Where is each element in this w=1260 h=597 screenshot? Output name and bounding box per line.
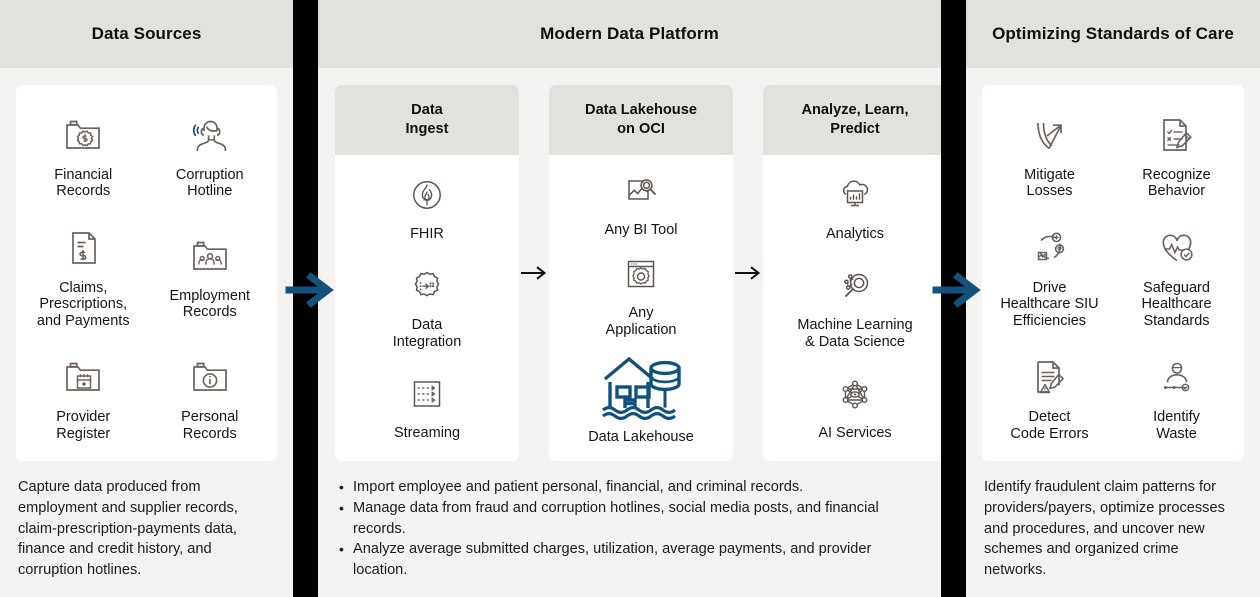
column-data-sources: Data Sources Financial Records — [0, 0, 293, 597]
panel-analyze-learn-predict: Analyze, Learn, Predict — [763, 85, 947, 461]
neural-network-icon — [834, 369, 876, 419]
document-dollar-icon — [60, 221, 106, 275]
tile-employment-records[interactable]: Employment Records — [147, 225, 274, 321]
item-analytics[interactable]: Analytics — [826, 170, 884, 243]
item-label: AI Services — [818, 425, 891, 442]
lakehouse-icon — [597, 349, 685, 423]
platform-header: Modern Data Platform — [318, 0, 941, 68]
tile-label: Employment Records — [169, 288, 250, 321]
item-label: Data Integration — [393, 317, 462, 350]
tile-financial-records[interactable]: Financial Records — [20, 104, 147, 200]
item-any-bi-tool[interactable]: Any BI Tool — [604, 166, 677, 239]
panel-title: Data Ingest — [406, 101, 449, 139]
item-label: Streaming — [394, 425, 460, 442]
connector-arrow-platform-to-outcomes — [930, 262, 986, 318]
bullet-marker: • — [339, 539, 353, 581]
tile-label: Personal Records — [181, 409, 238, 442]
tile-recognize-behavior[interactable]: Recognize Behavior — [1113, 104, 1240, 200]
tile-provider-register[interactable]: Provider Register — [20, 346, 147, 442]
tile-safeguard-healthcare-standards[interactable]: Safeguard Healthcare Standards — [1113, 217, 1240, 330]
heart-pulse-check-icon — [1154, 221, 1200, 275]
outcomes-caption: Identify fraudulent claim patterns for p… — [982, 461, 1244, 581]
tile-personal-records[interactable]: Personal Records — [147, 346, 274, 442]
person-timeline-icon — [1154, 350, 1200, 404]
gear-dataflow-icon — [406, 261, 448, 311]
document-warning-pencil-icon — [1027, 350, 1073, 404]
panel-analyze-header: Analyze, Learn, Predict — [763, 85, 947, 155]
bullet-text: Import employee and patient personal, fi… — [353, 477, 920, 498]
item-streaming[interactable]: Streaming — [394, 369, 460, 442]
streaming-arrows-icon — [406, 369, 448, 419]
ml-magnifier-icon — [834, 261, 876, 311]
item-fhir[interactable]: FHIR — [406, 170, 448, 243]
panel-data-lakehouse-oci: Data Lakehouse on OCI — [549, 85, 733, 461]
headset-agent-icon — [187, 108, 233, 162]
tile-label: Detect Code Errors — [1010, 409, 1088, 442]
cloud-analytics-icon — [834, 170, 876, 220]
data-sources-header: Data Sources — [0, 0, 293, 68]
tile-label: Drive Healthcare SIU Efficiencies — [1000, 280, 1098, 330]
tile-label: Provider Register — [56, 409, 110, 442]
folder-dollar-icon — [60, 108, 106, 162]
tile-label: Mitigate Losses — [1024, 167, 1075, 200]
bullet-item: • Analyze average submitted charges, uti… — [339, 539, 920, 581]
tile-claims-prescriptions-payments[interactable]: Claims, Prescriptions, and Payments — [20, 217, 147, 330]
inner-arrow-2 — [733, 85, 763, 461]
item-any-application[interactable]: Any Application — [606, 249, 677, 338]
item-label: Analytics — [826, 226, 884, 243]
cycle-health-icon — [1027, 221, 1073, 275]
window-gear-icon — [620, 249, 662, 299]
tile-drive-healthcare-siu-efficiencies[interactable]: Drive Healthcare SIU Efficiencies — [986, 217, 1113, 330]
item-machine-learning-data-science[interactable]: Machine Learning & Data Science — [797, 261, 912, 350]
inner-arrow-1 — [519, 85, 549, 461]
tile-label: Claims, Prescriptions, and Payments — [37, 280, 130, 330]
panel-analyze-items: Analytics — [763, 155, 947, 461]
item-label: Data Lakehouse — [588, 429, 694, 446]
data-sources-icon-card: Financial Records — [16, 85, 277, 461]
column-optimizing-standards-of-care: Optimizing Standards of Care Mitigate Lo — [966, 0, 1260, 597]
panel-data-ingest-items: FHIR — [335, 155, 519, 461]
panel-data-lakehouse-header: Data Lakehouse on OCI — [549, 85, 733, 155]
data-sources-title: Data Sources — [92, 24, 202, 44]
item-data-integration[interactable]: Data Integration — [393, 261, 462, 350]
connector-arrow-sources-to-platform — [283, 262, 339, 318]
tile-detect-code-errors[interactable]: Detect Code Errors — [986, 346, 1113, 442]
tile-identify-waste[interactable]: Identify Waste — [1113, 346, 1240, 442]
item-label: Any BI Tool — [604, 222, 677, 239]
platform-panel-row: Data Ingest — [335, 85, 924, 461]
data-sources-caption: Capture data produced from employment an… — [16, 461, 277, 581]
folder-info-icon — [187, 350, 233, 404]
diagram-canvas: Data Sources Financial Records — [0, 0, 1260, 597]
folder-calendar-plus-icon — [60, 350, 106, 404]
panel-data-ingest-header: Data Ingest — [335, 85, 519, 155]
platform-bullet-list: • Import employee and patient personal, … — [335, 461, 924, 581]
item-data-lakehouse[interactable]: Data Lakehouse — [588, 349, 694, 446]
outcomes-body: Mitigate Losses — [966, 68, 1260, 597]
tile-label: Identify Waste — [1153, 409, 1200, 442]
outcomes-title: Optimizing Standards of Care — [992, 24, 1234, 44]
fhir-flame-icon — [406, 170, 448, 220]
panel-data-lakehouse-items: Any BI Tool — [549, 155, 733, 461]
tile-label: Corruption Hotline — [176, 167, 244, 200]
tile-corruption-hotline[interactable]: Corruption Hotline — [147, 104, 274, 200]
item-ai-services[interactable]: AI Services — [818, 369, 891, 442]
bullet-item: • Manage data from fraud and corruption … — [339, 498, 920, 540]
tile-label: Financial Records — [54, 167, 112, 200]
column-modern-data-platform: Modern Data Platform Data Ingest — [318, 0, 941, 597]
outcomes-icon-card: Mitigate Losses — [982, 85, 1244, 461]
data-sources-body: Financial Records — [0, 68, 293, 597]
platform-body: Data Ingest — [318, 68, 941, 597]
bullet-text: Manage data from fraud and corruption ho… — [353, 498, 920, 540]
item-label: Any Application — [606, 305, 677, 338]
panel-data-ingest: Data Ingest — [335, 85, 519, 461]
chart-magnifier-icon — [620, 166, 662, 216]
item-label: FHIR — [410, 226, 444, 243]
tile-mitigate-losses[interactable]: Mitigate Losses — [986, 104, 1113, 200]
folder-people-icon — [187, 229, 233, 283]
arrow-rebound-icon — [1027, 108, 1073, 162]
bullet-marker: • — [339, 477, 353, 498]
bullet-item: • Import employee and patient personal, … — [339, 477, 920, 498]
checklist-pencil-icon — [1154, 108, 1200, 162]
outcomes-header: Optimizing Standards of Care — [966, 0, 1260, 68]
bullet-text: Analyze average submitted charges, utili… — [353, 539, 920, 581]
tile-label: Recognize Behavior — [1142, 167, 1211, 200]
panel-title: Data Lakehouse on OCI — [585, 101, 697, 139]
bullet-marker: • — [339, 498, 353, 540]
panel-title: Analyze, Learn, Predict — [801, 101, 908, 139]
platform-title: Modern Data Platform — [540, 24, 719, 44]
item-label: Machine Learning & Data Science — [797, 317, 912, 350]
tile-label: Safeguard Healthcare Standards — [1141, 280, 1211, 330]
